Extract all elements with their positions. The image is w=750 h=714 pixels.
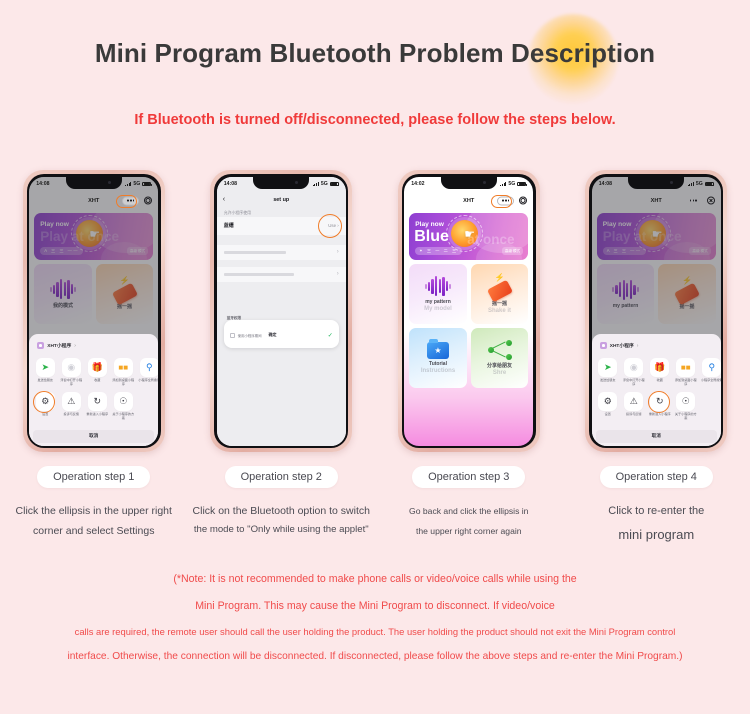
status-time: 14:08 [36, 181, 49, 187]
phone-bezel: 14:08 5G ‹ set up 允许小程序使用 蓝缙 [214, 174, 348, 448]
phone-bezel: 14:08 5G XHT [589, 174, 723, 448]
sheet-item-label: 添加到桌面小程序 [111, 379, 135, 387]
close-target-icon[interactable] [519, 197, 527, 205]
phone-mockup-2: 14:08 5G ‹ set up 允许小程序使用 蓝缙 [210, 170, 352, 452]
nav-title: set up [273, 197, 289, 203]
sheet-item-about[interactable]: ☉ 关于小程序的方案 [674, 392, 698, 421]
phone-mockup-1: 14:08 5G XHT [23, 170, 165, 452]
note-line-3: calls are required, the remote user shou… [0, 620, 750, 644]
program-avatar [37, 342, 44, 349]
sheet-item-settings[interactable]: ⚙ 设置 [33, 392, 57, 421]
banner-ghost-text: at once [467, 232, 514, 247]
sheet-row-2: ⚙ 设置 ⚠ 投诉与反馈 ↻ 重新进入小程序 [596, 392, 717, 426]
phone-mockup-3: 14:02 5G XHT [398, 170, 540, 452]
collect-gift-icon: 🎁 [650, 358, 669, 377]
program-avatar [600, 342, 607, 349]
wechat-capsule[interactable] [685, 196, 715, 205]
gear-icon: ⚙ [36, 392, 55, 411]
ellipsis-menu-icon[interactable] [685, 196, 702, 205]
sheet-item-label: 小程序全局搜索 [700, 379, 721, 383]
feature-grid: my pattern My model ⚡ 摇一摇 Shake it ★ Tut… [409, 264, 528, 388]
settings-row-2[interactable]: › [217, 267, 346, 282]
gear-icon: ⚙ [598, 392, 617, 411]
status-icons: 5G [688, 181, 714, 187]
front-camera-icon [108, 181, 111, 184]
bluetooth-label: 蓝缙 [224, 222, 234, 229]
signal-icon [688, 182, 694, 187]
sheet-item-restart[interactable]: ↻ 重新进入小程序 [648, 392, 672, 421]
note-line-1: (*Note: It is not recommended to make ph… [0, 566, 750, 593]
phone-mockup-4: 14:08 5G XHT [585, 170, 727, 452]
sheet-header[interactable]: XHT小程序 › [592, 339, 721, 354]
sheet-item-collect[interactable]: 🎁 收藏 [85, 358, 109, 387]
phone-screen-3: 14:02 5G XHT [404, 177, 533, 446]
step-text: Click to re-enter the mini program [561, 501, 750, 548]
restart-icon: ↻ [88, 392, 107, 411]
phone-bezel: 14:02 5G XHT [402, 174, 536, 448]
card-sublabel: Shre [493, 370, 506, 376]
notch [253, 177, 309, 189]
phone-screen-1: 14:08 5G XHT [29, 177, 158, 446]
network-label: 5G [321, 181, 328, 187]
sheet-item-float-window[interactable]: ◉ 浮窗中打开小程序 [622, 358, 646, 387]
nav-bar: XHT [404, 192, 533, 210]
chevron-right-icon: › [637, 343, 639, 349]
step-column-2: Operation step 2 Click on the Bluetooth … [191, 466, 371, 546]
nav-title: XHT [88, 198, 99, 204]
row-text [224, 273, 294, 276]
add-desktop-icon: ■■ [676, 358, 695, 377]
notch [441, 177, 497, 189]
sheet-item-label: 浮窗中打开小程序 [59, 379, 83, 387]
card-sublabel: Instructions [421, 368, 455, 374]
sheet-item-share[interactable]: ➤ 发送给朋友 [596, 358, 620, 387]
status-time: 14:02 [411, 181, 424, 187]
banner-bigword: Blue [414, 229, 449, 245]
sheet-item-share[interactable]: ➤ 发送给朋友 [33, 358, 57, 387]
page-title: Mini Program Bluetooth Problem Descripti… [0, 38, 750, 69]
note-line-2: Mini Program. This may cause the Mini Pr… [0, 593, 750, 620]
status-icons: 5G [125, 181, 151, 187]
step-text-line1: Click the ellipsis in the upper right [0, 501, 189, 521]
step-text-line2: the upper right corner again [374, 521, 564, 541]
step-pill: Operation step 1 [37, 466, 150, 488]
page-subtitle: If Bluetooth is turned off/disconnected,… [0, 112, 750, 128]
verified-icon: ☉ [114, 392, 133, 411]
banner-corner-chip: 高级 模式 [502, 247, 523, 254]
action-sheet-1: XHT小程序 › ➤ 发送给朋友 ◉ 浮窗中打开小程序 [29, 334, 158, 445]
device-icon [487, 279, 513, 302]
collect-gift-icon: 🎁 [88, 358, 107, 377]
front-camera-icon [483, 181, 486, 184]
step-text: Click the ellipsis in the upper right co… [0, 501, 189, 542]
network-label: 5G [508, 181, 515, 187]
front-camera-icon [295, 181, 298, 184]
step-text: Click on the Bluetooth option to switch … [186, 501, 376, 540]
sheet-item-search[interactable]: ⚲ 小程序全局搜索 [137, 358, 158, 387]
cancel-button[interactable]: 取消 [33, 430, 154, 443]
card-share[interactable]: 分享给朋友 Shre [471, 328, 529, 388]
banner-kicker: Play now [415, 221, 444, 228]
step-text-line2: mini program [561, 522, 750, 547]
card-label: my pattern [425, 299, 451, 305]
notch [628, 177, 684, 189]
sheet-item-label: 关于小程序的方案 [111, 413, 135, 421]
chevron-right-icon: › [74, 343, 76, 349]
share-arrow-icon: ➤ [598, 358, 617, 377]
app-home-3: ☛ at once Play now Blue ✶ 三 一 二 三 高级 模式 … [404, 210, 533, 446]
float-window-icon: ◉ [62, 358, 81, 377]
step-captions: Operation step 1 Click the ellipsis in t… [0, 466, 750, 546]
back-button[interactable]: ‹ [223, 196, 225, 203]
sheet-item-settings[interactable]: ⚙ 设置 [596, 392, 620, 421]
nav-title: XHT [651, 198, 662, 204]
sheet-rows: ➤ 发送给朋友 ◉ 浮窗中打开小程序 🎁 收藏 [29, 354, 158, 427]
front-camera-icon [670, 181, 673, 184]
sheet-item-feedback[interactable]: ⚠ 投诉与反馈 [622, 392, 646, 421]
sheet-item-label: 添加到桌面小程序 [674, 379, 698, 387]
chevron-right-icon: › [337, 271, 339, 277]
step-text-line1: Click to re-enter the [561, 501, 750, 522]
dialog-option-row[interactable]: 使用小程序期间 确定 ✓ [230, 332, 333, 339]
chevron-right-icon: › [337, 249, 339, 255]
signal-icon [313, 182, 319, 187]
card-label: 分享给朋友 [487, 362, 512, 369]
note-block: (*Note: It is not recommended to make ph… [0, 566, 750, 670]
action-sheet-4: XHT小程序 › ➤ 发送给朋友 ◉ 浮窗中打开小程序 [592, 334, 721, 445]
warning-icon: ⚠ [62, 392, 81, 411]
close-target-icon[interactable] [144, 197, 152, 205]
share-network-icon [488, 340, 512, 360]
dialog-subtitle [230, 325, 333, 329]
sheet-row-2: ⚙ 设置 ⚠ 投诉与反馈 ↻ 重新进入小程序 [33, 392, 154, 426]
sheet-item-label: 投诉与反馈 [622, 413, 646, 417]
sheet-item-float-window[interactable]: ◉ 浮窗中打开小程序 [59, 358, 83, 387]
sheet-item-label: 小程序全局搜索 [137, 379, 158, 383]
wechat-capsule[interactable] [122, 196, 152, 205]
ellipsis-menu-icon[interactable] [497, 196, 514, 205]
status-time: 14:08 [599, 181, 612, 187]
step-text-line2: the mode to "Only while using the applet… [186, 521, 376, 540]
battery-icon [330, 182, 339, 187]
permission-dialog[interactable]: 使用小程序期间 确定 ✓ [224, 320, 339, 348]
section-label: 允许小程序使用 [224, 210, 251, 216]
close-target-icon[interactable] [707, 197, 715, 205]
verified-icon: ☉ [676, 392, 695, 411]
phone-screen-4: 14:08 5G XHT [592, 177, 721, 446]
check-icon: ✓ [328, 332, 333, 339]
program-name: XHT小程序 [47, 342, 71, 349]
share-arrow-icon: ➤ [36, 358, 55, 377]
row-text [224, 251, 286, 254]
sheet-item-label: 关于小程序的方案 [674, 413, 698, 421]
step-text-line2: corner and select Settings [0, 521, 189, 541]
network-label: 5G [696, 181, 703, 187]
sheet-item-restart[interactable]: ↻ 重新进入小程序 [85, 392, 109, 421]
sheet-header[interactable]: XHT小程序 › [29, 339, 158, 354]
checkbox-icon[interactable] [230, 333, 235, 338]
step-text: Go back and click the ellipsis in the up… [374, 501, 564, 541]
status-time: 14:08 [224, 181, 237, 187]
settings-page: 14:08 5G ‹ set up 允许小程序使用 蓝缙 [217, 177, 346, 446]
sheet-item-label: 发送给朋友 [33, 379, 57, 383]
sheet-row-1: ➤ 发送给朋友 ◉ 浮窗中打开小程序 🎁 收藏 [33, 358, 154, 392]
program-name: XHT小程序 [610, 342, 634, 349]
card-tutorial[interactable]: ★ Tutorial Instructions [409, 328, 467, 388]
search-icon: ⚲ [140, 358, 159, 377]
battery-icon [705, 182, 714, 187]
sheet-item-feedback[interactable]: ⚠ 投诉与反馈 [59, 392, 83, 421]
step-column-3: Operation step 3 Go back and click the e… [379, 466, 559, 546]
sheet-item-label: 重新进入小程序 [648, 413, 672, 417]
dialog-action[interactable]: 确定 [268, 332, 276, 338]
card-shake-it[interactable]: ⚡ 摇一摇 Shake it [471, 264, 529, 324]
network-label: 5G [133, 181, 140, 187]
step-column-1: Operation step 1 Click the ellipsis in t… [4, 466, 184, 546]
card-my-model[interactable]: my pattern My model [409, 264, 467, 324]
step-pill: Operation step 2 [225, 466, 338, 488]
sheet-item-label: 设置 [596, 413, 620, 417]
float-window-icon: ◉ [624, 358, 643, 377]
cancel-button[interactable]: 取消 [596, 430, 717, 443]
sheet-item-label: 重新进入小程序 [85, 413, 109, 417]
note-line-4: interface. Otherwise, the connection wil… [0, 644, 750, 670]
step-text-line1: Go back and click the ellipsis in [374, 501, 564, 521]
notch [66, 177, 122, 189]
sheet-item-label: 发送给朋友 [596, 379, 620, 383]
bluetooth-value[interactable]: Use › [328, 223, 339, 228]
nav-bar: XHT [592, 192, 721, 210]
step-pill: Operation step 4 [600, 466, 713, 488]
banner-chip: ✶ 三 一 二 三 [415, 247, 461, 255]
wechat-capsule[interactable] [497, 196, 527, 205]
add-desktop-icon: ■■ [114, 358, 133, 377]
settings-row-1[interactable]: › [217, 245, 346, 260]
sheet-item-label: 投诉与反馈 [59, 413, 83, 417]
battery-icon [517, 182, 526, 187]
warning-icon: ⚠ [624, 392, 643, 411]
phone-screen-2: 14:08 5G ‹ set up 允许小程序使用 蓝缙 [217, 177, 346, 446]
card-sublabel: Shake it [488, 308, 511, 314]
status-icons: 5G [500, 181, 526, 187]
sheet-item-label: 收藏 [85, 379, 109, 383]
ellipsis-menu-icon[interactable] [122, 196, 139, 205]
search-icon: ⚲ [702, 358, 721, 377]
bluetooth-row[interactable]: 蓝缙 Use › [217, 217, 346, 235]
restart-icon: ↻ [650, 392, 669, 411]
phone-bezel: 14:08 5G XHT [27, 174, 161, 448]
sheet-item-label: 收藏 [648, 379, 672, 383]
step-text-line1: Click on the Bluetooth option to switch [186, 501, 376, 521]
nav-bar: XHT [29, 192, 158, 210]
card-sublabel: My model [424, 306, 452, 312]
signal-icon [500, 182, 506, 187]
sheet-item-collect[interactable]: 🎁 收藏 [648, 358, 672, 387]
battery-icon [142, 182, 151, 187]
sheet-item-add-desktop[interactable]: ■■ 添加到桌面小程序 [674, 358, 698, 387]
nav-title: XHT [463, 198, 474, 204]
card-label: Tutorial [429, 361, 447, 367]
step-pill: Operation step 3 [412, 466, 525, 488]
sheet-item-search[interactable]: ⚲ 小程序全局搜索 [700, 358, 721, 387]
sheet-rows: ➤ 发送给朋友 ◉ 浮窗中打开小程序 🎁 收藏 [592, 354, 721, 427]
promo-banner[interactable]: ☛ at once Play now Blue ✶ 三 一 二 三 高级 模式 [409, 213, 528, 260]
sheet-item-add-desktop[interactable]: ■■ 添加到桌面小程序 [111, 358, 135, 387]
status-icons: 5G [313, 181, 339, 187]
sheet-item-about[interactable]: ☉ 关于小程序的方案 [111, 392, 135, 421]
sheet-item-label: 设置 [33, 413, 57, 417]
settings-nav-bar: ‹ set up [217, 192, 346, 208]
step-column-4: Operation step 4 Click to re-enter the m… [566, 466, 746, 546]
waveform-icon [425, 275, 451, 297]
phone-mockup-row: 14:08 5G XHT [0, 170, 750, 455]
sheet-item-label: 浮窗中打开小程序 [622, 379, 646, 387]
signal-icon [125, 182, 131, 187]
dialog-option-label: 使用小程序期间 [238, 333, 262, 338]
folder-star-icon: ★ [427, 342, 449, 359]
sheet-row-1: ➤ 发送给朋友 ◉ 浮窗中打开小程序 🎁 收藏 [596, 358, 717, 392]
